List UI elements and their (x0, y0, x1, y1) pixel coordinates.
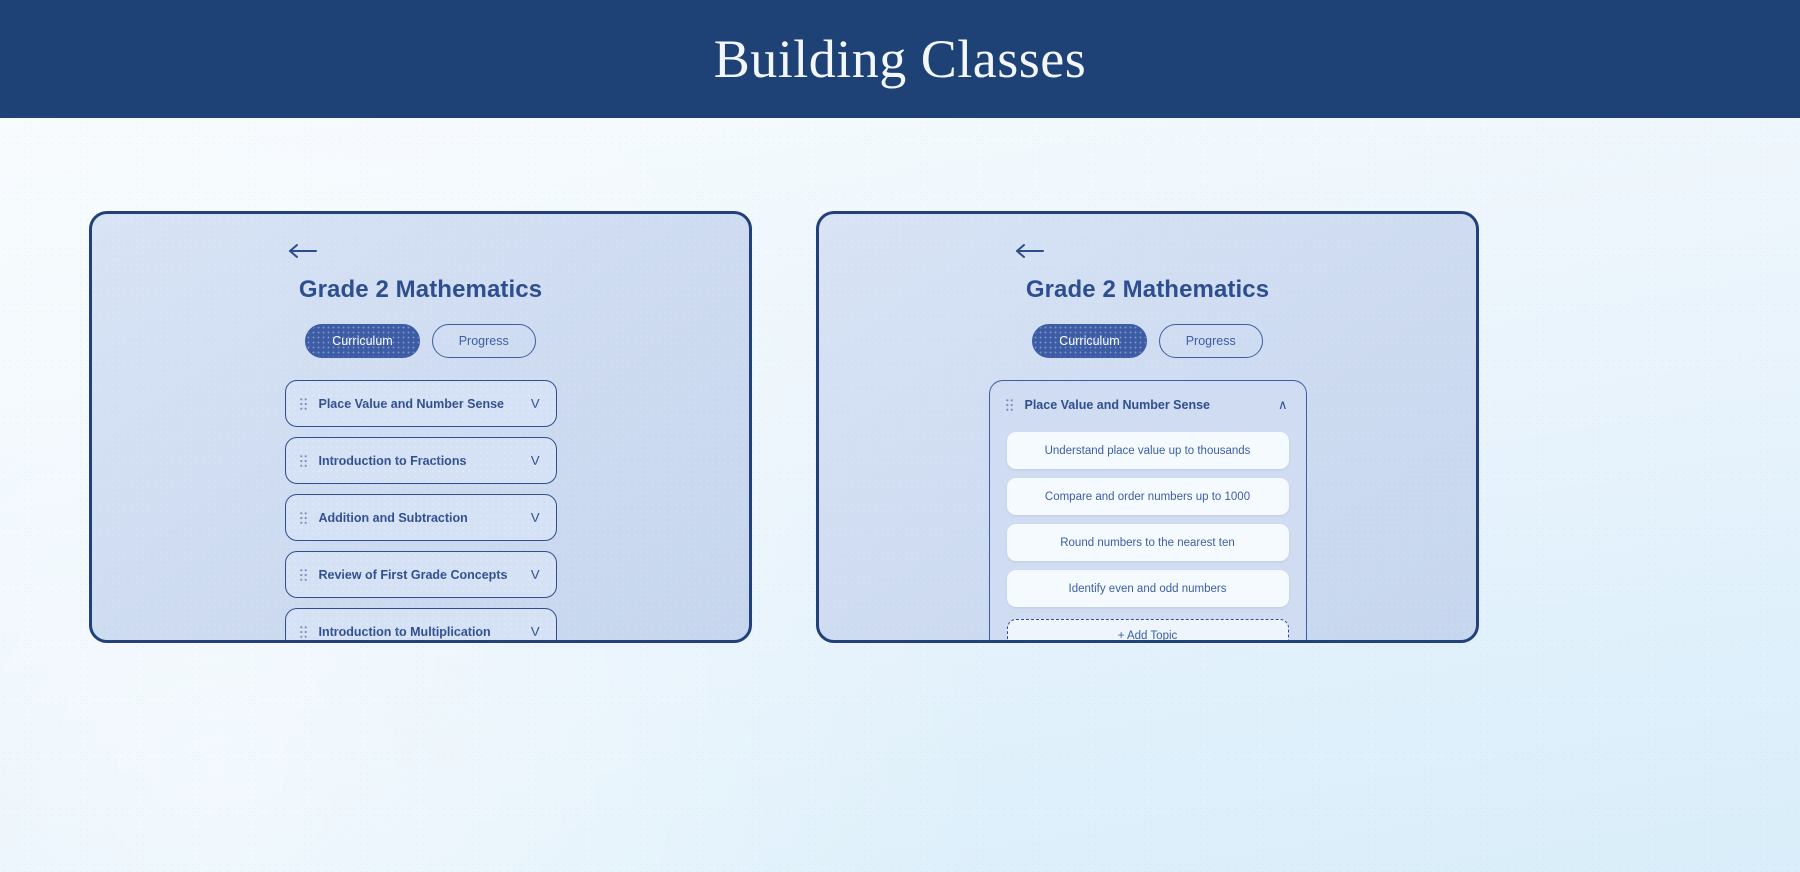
unit-row[interactable]: Introduction to Multiplication V (285, 608, 557, 643)
unit-row[interactable]: Place Value and Number Sense V (285, 380, 557, 427)
drag-handle-icon[interactable] (300, 455, 307, 467)
card-curriculum-expanded: Grade 2 Mathematics Curriculum Progress … (816, 211, 1479, 643)
tab-progress[interactable]: Progress (1159, 324, 1263, 358)
chevron-down-icon[interactable]: V (531, 567, 540, 582)
card-curriculum-collapsed: Grade 2 Mathematics Curriculum Progress … (89, 211, 752, 643)
tab-group: Curriculum Progress (819, 324, 1476, 358)
arrow-left-icon[interactable] (288, 240, 318, 262)
chevron-down-icon[interactable]: V (531, 624, 540, 639)
card-title: Grade 2 Mathematics (92, 276, 749, 304)
tab-progress[interactable]: Progress (432, 324, 536, 358)
topic-item[interactable]: Identify even and odd numbers (1007, 570, 1289, 607)
drag-handle-icon[interactable] (300, 512, 307, 524)
drag-handle-icon[interactable] (1006, 399, 1013, 411)
unit-label: Review of First Grade Concepts (319, 568, 519, 582)
unit-row[interactable]: Addition and Subtraction V (285, 494, 557, 541)
page-title: Building Classes (714, 28, 1087, 90)
add-topic-button[interactable]: + Add Topic (1007, 619, 1289, 643)
unit-label: Place Value and Number Sense (1025, 398, 1266, 412)
topic-list: Understand place value up to thousands C… (990, 428, 1306, 607)
tab-curriculum[interactable]: Curriculum (305, 324, 419, 358)
drag-handle-icon[interactable] (300, 626, 307, 638)
unit-label: Introduction to Multiplication (319, 625, 519, 639)
topic-item[interactable]: Round numbers to the nearest ten (1007, 524, 1289, 561)
drag-handle-icon[interactable] (300, 569, 307, 581)
chevron-down-icon[interactable]: V (531, 453, 540, 468)
tab-group: Curriculum Progress (92, 324, 749, 358)
unit-row-expanded[interactable]: Place Value and Number Sense ∧ (990, 381, 1306, 428)
drag-handle-icon[interactable] (300, 398, 307, 410)
chevron-down-icon[interactable]: V (531, 510, 540, 525)
unit-expanded: Place Value and Number Sense ∧ Understan… (989, 380, 1307, 643)
topic-item[interactable]: Compare and order numbers up to 1000 (1007, 478, 1289, 515)
unit-row[interactable]: Introduction to Fractions V (285, 437, 557, 484)
topic-item[interactable]: Understand place value up to thousands (1007, 432, 1289, 469)
unit-label: Addition and Subtraction (319, 511, 519, 525)
unit-label: Place Value and Number Sense (319, 397, 519, 411)
page-header: Building Classes (0, 0, 1800, 118)
chevron-down-icon[interactable]: V (531, 396, 540, 411)
tab-curriculum[interactable]: Curriculum (1032, 324, 1146, 358)
cards-stage: Grade 2 Mathematics Curriculum Progress … (0, 118, 1800, 872)
unit-list: Place Value and Number Sense V Introduct… (285, 380, 557, 643)
card-title: Grade 2 Mathematics (819, 276, 1476, 304)
unit-row[interactable]: Review of First Grade Concepts V (285, 551, 557, 598)
unit-label: Introduction to Fractions (319, 454, 519, 468)
chevron-up-icon[interactable]: ∧ (1278, 397, 1288, 413)
arrow-left-icon[interactable] (1015, 240, 1045, 262)
expanded-unit-wrapper: Place Value and Number Sense ∧ Understan… (989, 380, 1307, 643)
